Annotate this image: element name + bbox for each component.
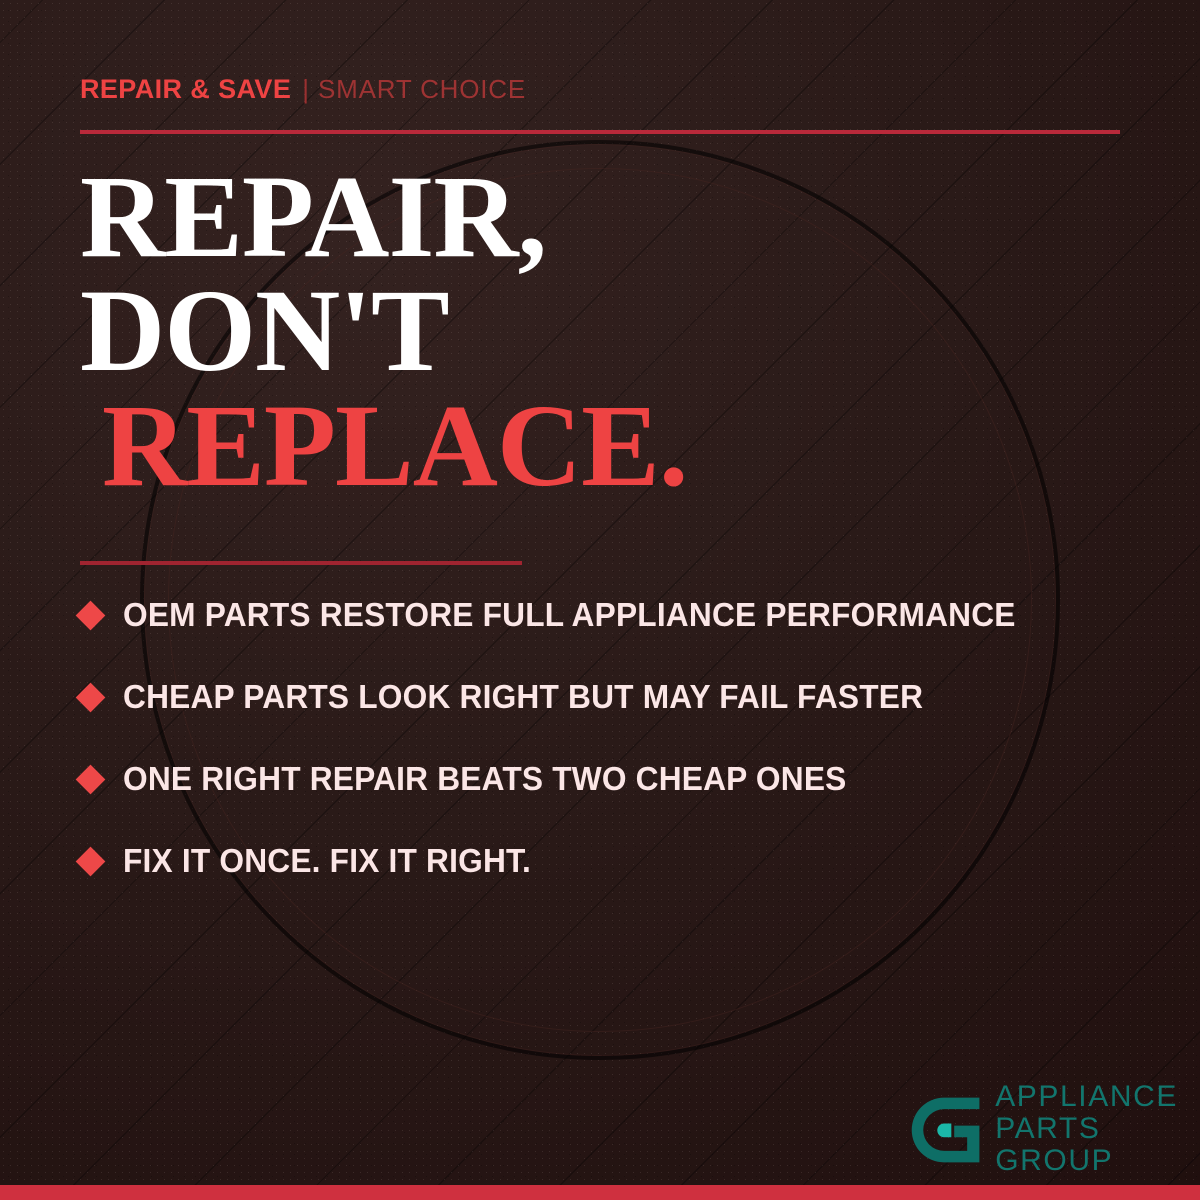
g-monogram-icon [911, 1094, 983, 1166]
diamond-bullet-icon [76, 600, 106, 630]
brand-word-line-1: APPLIANCE [995, 1082, 1178, 1112]
kicker-sub-label: SMART CHOICE [318, 74, 526, 105]
list-item-label: OEM PARTS RESTORE FULL APPLIANCE PERFORM… [123, 596, 1016, 634]
list-item-label: ONE RIGHT REPAIR BEATS TWO CHEAP ONES [123, 760, 846, 798]
brand-word-line-3: GROUP [995, 1146, 1178, 1176]
header-rule [80, 130, 1120, 134]
page-title: REPAIR, DON'T REPLACE. [80, 160, 687, 503]
kicker-separator: | [302, 74, 309, 105]
brand-word-line-2: PARTS [995, 1114, 1178, 1144]
list-item-label: CHEAP PARTS LOOK RIGHT BUT MAY FAIL FAST… [123, 678, 923, 716]
bottom-accent-bar [0, 1185, 1200, 1200]
brand-logo: APPLIANCE PARTS GROUP [911, 1082, 1178, 1178]
diamond-bullet-icon [76, 764, 106, 794]
list-item-label: FIX IT ONCE. FIX IT RIGHT. [123, 842, 531, 880]
diamond-bullet-icon [76, 846, 106, 876]
headline-divider-rule [80, 561, 522, 565]
list-item: OEM PARTS RESTORE FULL APPLIANCE PERFORM… [80, 592, 1140, 638]
poster-content: REPAIR & SAVE | SMART CHOICE REPAIR, DON… [0, 0, 1200, 1200]
brand-wordmark: APPLIANCE PARTS GROUP [995, 1082, 1178, 1178]
list-item: FIX IT ONCE. FIX IT RIGHT. [80, 838, 1140, 884]
diamond-bullet-icon [76, 682, 106, 712]
kicker: REPAIR & SAVE | SMART CHOICE [80, 74, 526, 105]
kicker-main-label: REPAIR & SAVE [80, 74, 291, 105]
benefits-list: OEM PARTS RESTORE FULL APPLIANCE PERFORM… [80, 592, 1140, 884]
headline-line-2: DON'T [80, 274, 687, 388]
poster-canvas: REPAIR & SAVE | SMART CHOICE REPAIR, DON… [0, 0, 1200, 1200]
list-item: ONE RIGHT REPAIR BEATS TWO CHEAP ONES [80, 756, 1140, 802]
headline-line-3: REPLACE. [80, 389, 687, 503]
headline-line-1: REPAIR, [80, 160, 687, 274]
list-item: CHEAP PARTS LOOK RIGHT BUT MAY FAIL FAST… [80, 674, 1140, 720]
